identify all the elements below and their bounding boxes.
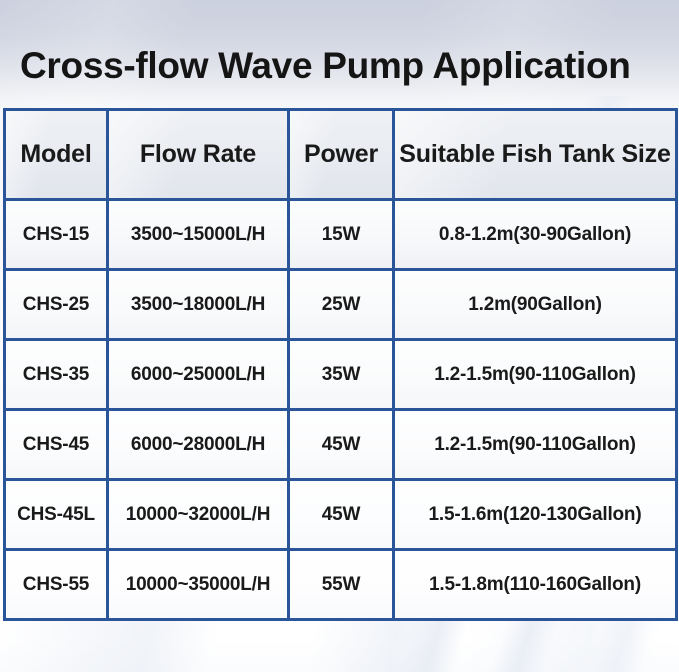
cell-flow-rate: 6000~28000L/H — [109, 411, 290, 481]
specification-table: Model Flow Rate Power Suitable Fish Tank… — [3, 108, 678, 621]
column-header-model-label: Model — [6, 140, 106, 169]
cell-tank-size: 1.2-1.5m(90-110Gallon) — [395, 411, 678, 481]
cell-tank-size: 1.2m(90Gallon) — [395, 271, 678, 341]
table-header: Model Flow Rate Power Suitable Fish Tank… — [3, 108, 678, 201]
cell-tank-size: 1.5-1.6m(120-130Gallon) — [395, 481, 678, 551]
cell-power-value: 55W — [290, 574, 392, 596]
cell-power-value: 35W — [290, 364, 392, 386]
table-body: CHS-15 3500~15000L/H 15W 0.8-1.2m(30-90G… — [3, 201, 678, 621]
cell-flow-rate-value: 10000~35000L/H — [109, 574, 287, 596]
cell-model-value: CHS-25 — [6, 294, 106, 316]
column-header-flow-rate-label: Flow Rate — [109, 140, 287, 169]
column-header-tank-size: Suitable Fish Tank Size — [395, 108, 678, 201]
cell-model-value: CHS-45 — [6, 434, 106, 456]
table-row: CHS-25 3500~18000L/H 25W 1.2m(90Gallon) — [3, 271, 678, 341]
cell-tank-size-value: 0.8-1.2m(30-90Gallon) — [395, 224, 675, 246]
column-header-power: Power — [290, 108, 395, 201]
cell-flow-rate-value: 3500~15000L/H — [109, 224, 287, 246]
column-header-model: Model — [3, 108, 109, 201]
cell-tank-size: 1.2-1.5m(90-110Gallon) — [395, 341, 678, 411]
cell-power: 15W — [290, 201, 395, 271]
cell-tank-size-value: 1.2-1.5m(90-110Gallon) — [395, 434, 675, 456]
cell-model-value: CHS-55 — [6, 574, 106, 596]
page-title: Cross-flow Wave Pump Application — [20, 38, 665, 94]
cell-model: CHS-35 — [3, 341, 109, 411]
cell-tank-size-value: 1.2-1.5m(90-110Gallon) — [395, 364, 675, 386]
cell-flow-rate-value: 6000~28000L/H — [109, 434, 287, 456]
cell-flow-rate-value: 6000~25000L/H — [109, 364, 287, 386]
cell-model-value: CHS-15 — [6, 224, 106, 246]
table-row: CHS-45L 10000~32000L/H 45W 1.5-1.6m(120-… — [3, 481, 678, 551]
cell-flow-rate: 6000~25000L/H — [109, 341, 290, 411]
cell-model: CHS-45 — [3, 411, 109, 481]
cell-flow-rate: 10000~35000L/H — [109, 551, 290, 621]
cell-power-value: 25W — [290, 294, 392, 316]
cell-tank-size: 1.5-1.8m(110-160Gallon) — [395, 551, 678, 621]
table-row: CHS-15 3500~15000L/H 15W 0.8-1.2m(30-90G… — [3, 201, 678, 271]
cell-flow-rate: 10000~32000L/H — [109, 481, 290, 551]
table-row: CHS-55 10000~35000L/H 55W 1.5-1.8m(110-1… — [3, 551, 678, 621]
cell-power-value: 45W — [290, 434, 392, 456]
column-header-power-label: Power — [290, 140, 392, 169]
cell-power-value: 15W — [290, 224, 392, 246]
table-row: CHS-45 6000~28000L/H 45W 1.2-1.5m(90-110… — [3, 411, 678, 481]
column-header-flow-rate: Flow Rate — [109, 108, 290, 201]
column-header-tank-size-label: Suitable Fish Tank Size — [395, 140, 675, 169]
cell-model-value: CHS-35 — [6, 364, 106, 386]
table-header-row: Model Flow Rate Power Suitable Fish Tank… — [3, 108, 678, 201]
cell-power: 55W — [290, 551, 395, 621]
cell-tank-size-value: 1.5-1.6m(120-130Gallon) — [395, 504, 675, 526]
cell-model: CHS-25 — [3, 271, 109, 341]
cell-flow-rate: 3500~18000L/H — [109, 271, 290, 341]
cell-power-value: 45W — [290, 504, 392, 526]
cell-power: 25W — [290, 271, 395, 341]
cell-model: CHS-45L — [3, 481, 109, 551]
cell-power: 35W — [290, 341, 395, 411]
cell-model: CHS-55 — [3, 551, 109, 621]
cell-power: 45W — [290, 481, 395, 551]
cell-tank-size: 0.8-1.2m(30-90Gallon) — [395, 201, 678, 271]
table-row: CHS-35 6000~25000L/H 35W 1.2-1.5m(90-110… — [3, 341, 678, 411]
cell-power: 45W — [290, 411, 395, 481]
cell-flow-rate-value: 3500~18000L/H — [109, 294, 287, 316]
cell-model-value: CHS-45L — [6, 504, 106, 526]
cell-tank-size-value: 1.2m(90Gallon) — [395, 294, 675, 316]
cell-model: CHS-15 — [3, 201, 109, 271]
cell-tank-size-value: 1.5-1.8m(110-160Gallon) — [395, 574, 675, 596]
product-spec-page: Cross-flow Wave Pump Application Model F… — [0, 0, 679, 672]
cell-flow-rate-value: 10000~32000L/H — [109, 504, 287, 526]
cell-flow-rate: 3500~15000L/H — [109, 201, 290, 271]
